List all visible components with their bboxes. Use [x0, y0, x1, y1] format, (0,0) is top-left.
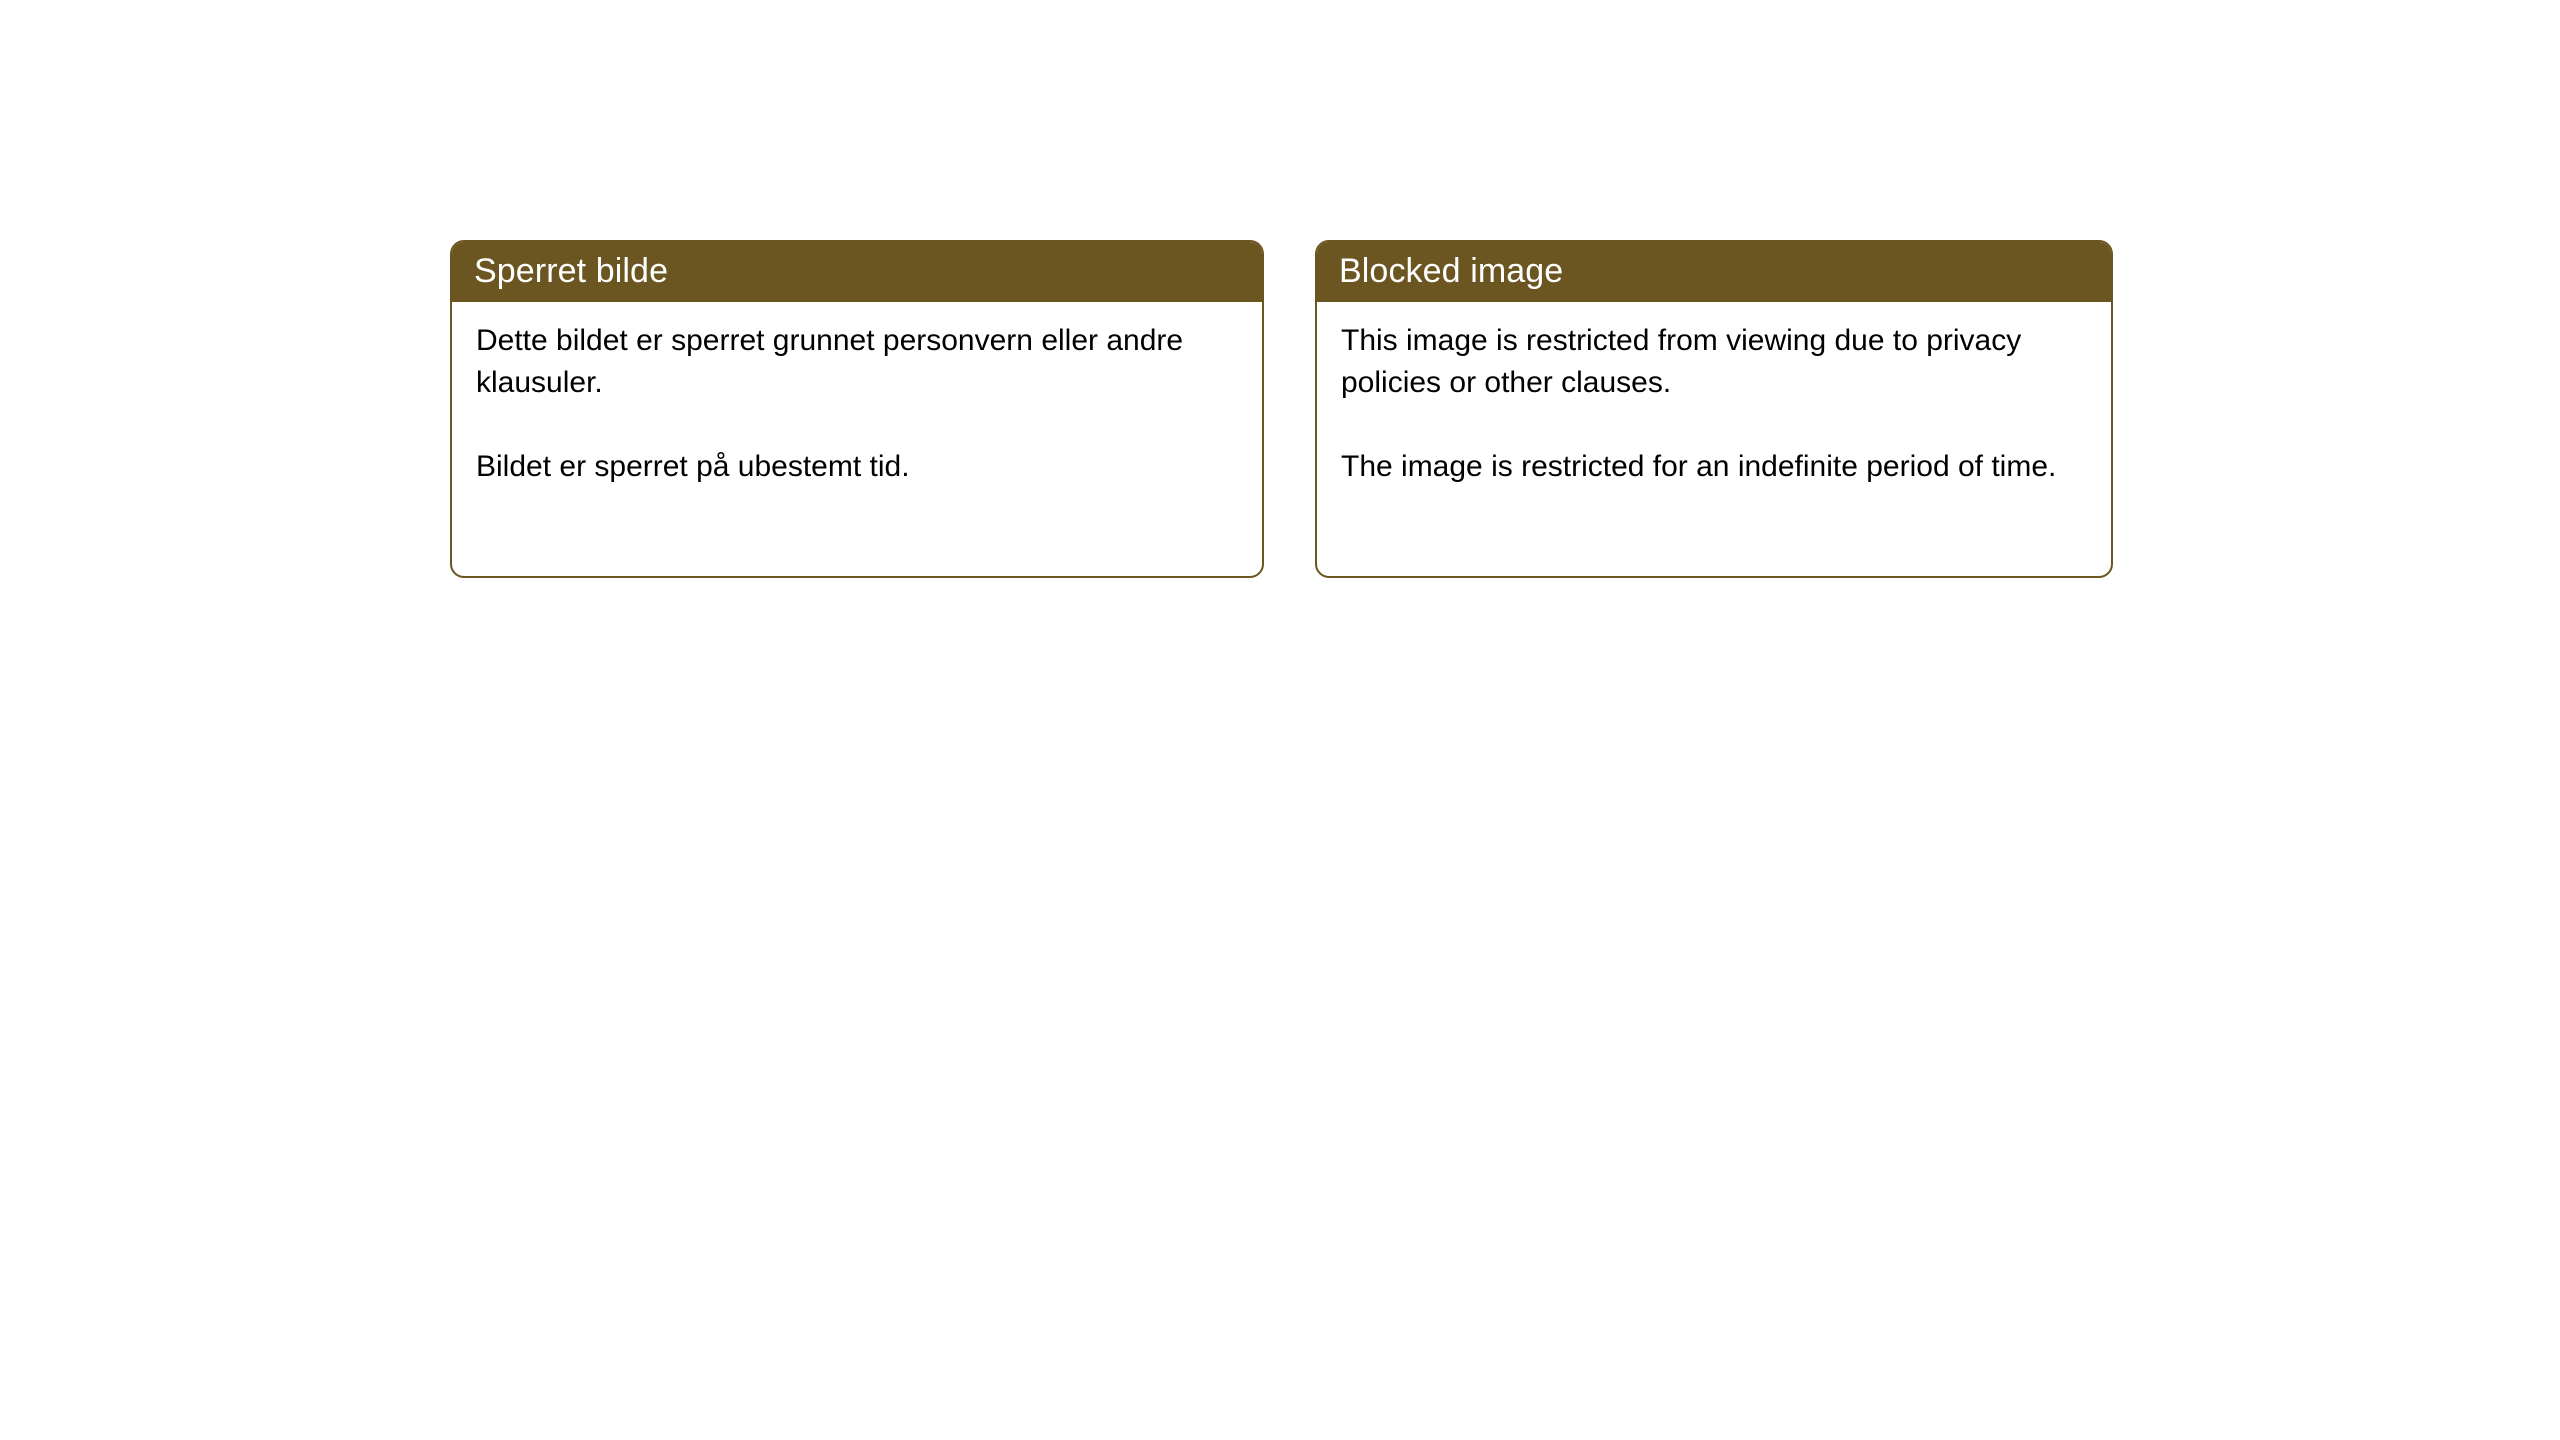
card-paragraph-primary-english: This image is restricted from viewing du…	[1341, 320, 2089, 404]
page-canvas: Sperret bilde Dette bildet er sperret gr…	[0, 0, 2560, 1440]
card-paragraph-secondary-norwegian: Bildet er sperret på ubestemt tid.	[476, 446, 1240, 488]
card-header-english: Blocked image	[1315, 240, 2113, 302]
card-paragraph-primary-norwegian: Dette bildet er sperret grunnet personve…	[476, 320, 1240, 404]
card-body-english: This image is restricted from viewing du…	[1317, 302, 2111, 488]
card-header-norwegian: Sperret bilde	[450, 240, 1264, 302]
card-title-norwegian: Sperret bilde	[474, 254, 668, 288]
blocked-image-notice-card-english: Blocked image This image is restricted f…	[1315, 240, 2113, 578]
card-body-norwegian: Dette bildet er sperret grunnet personve…	[452, 302, 1262, 488]
card-paragraph-secondary-english: The image is restricted for an indefinit…	[1341, 446, 2089, 488]
card-title-english: Blocked image	[1339, 254, 1563, 288]
blocked-image-notice-card-norwegian: Sperret bilde Dette bildet er sperret gr…	[450, 240, 1264, 578]
